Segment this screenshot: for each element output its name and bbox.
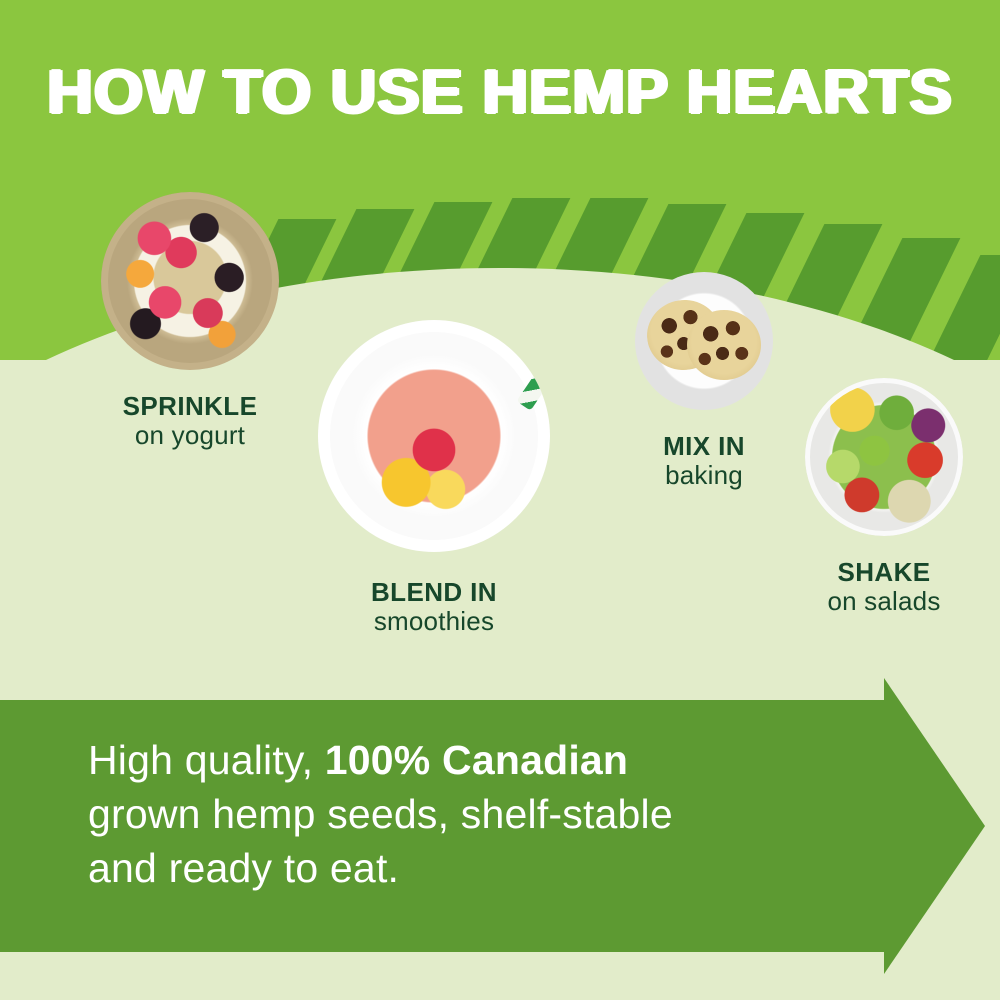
use-item-shake-on-salads: SHAKE on salads xyxy=(778,378,990,616)
use-item-mix-in-baking: MIX IN baking xyxy=(604,272,804,490)
use-target-label: smoothies xyxy=(303,607,565,636)
use-item-sprinkle-on-yogurt: SPRINKLE on yogurt xyxy=(64,192,316,450)
straw-icon xyxy=(516,320,550,411)
use-target-label: on salads xyxy=(778,587,990,616)
use-caption: MIX IN baking xyxy=(604,432,804,490)
page-title: HOW TO USE HEMP HEARTS xyxy=(0,62,1000,124)
banner-tagline: High quality, 100% Canadiangrown hemp se… xyxy=(88,733,848,895)
use-caption: SHAKE on salads xyxy=(778,558,990,616)
use-action-label: SPRINKLE xyxy=(64,392,316,421)
salad-bowl-photo xyxy=(805,378,963,536)
use-caption: BLEND IN smoothies xyxy=(303,578,565,636)
banner-line1-prefix: High quality, xyxy=(88,737,325,783)
banner-line1-bold: 100% Canadian xyxy=(325,737,628,783)
use-target-label: baking xyxy=(604,461,804,490)
arrow-banner: High quality, 100% Canadiangrown hemp se… xyxy=(0,700,1000,952)
cookies-plate-photo xyxy=(635,272,773,410)
use-item-blend-in-smoothies: BLEND IN smoothies xyxy=(303,320,565,636)
cookie-icon xyxy=(687,310,761,380)
arrow-head-icon xyxy=(884,678,985,974)
banner-line3: and ready to eat. xyxy=(88,845,399,891)
infographic-canvas: HOW TO USE HEMP HEARTS SPRINKLE on yogur… xyxy=(0,0,1000,1000)
use-caption: SPRINKLE on yogurt xyxy=(64,392,316,450)
use-action-label: BLEND IN xyxy=(303,578,565,607)
smoothie-bowl-photo xyxy=(318,320,550,552)
use-action-label: MIX IN xyxy=(604,432,804,461)
use-action-label: SHAKE xyxy=(778,558,990,587)
use-target-label: on yogurt xyxy=(64,421,316,450)
banner-line2: grown hemp seeds, shelf-stable xyxy=(88,791,673,837)
yogurt-bowl-photo xyxy=(101,192,279,370)
